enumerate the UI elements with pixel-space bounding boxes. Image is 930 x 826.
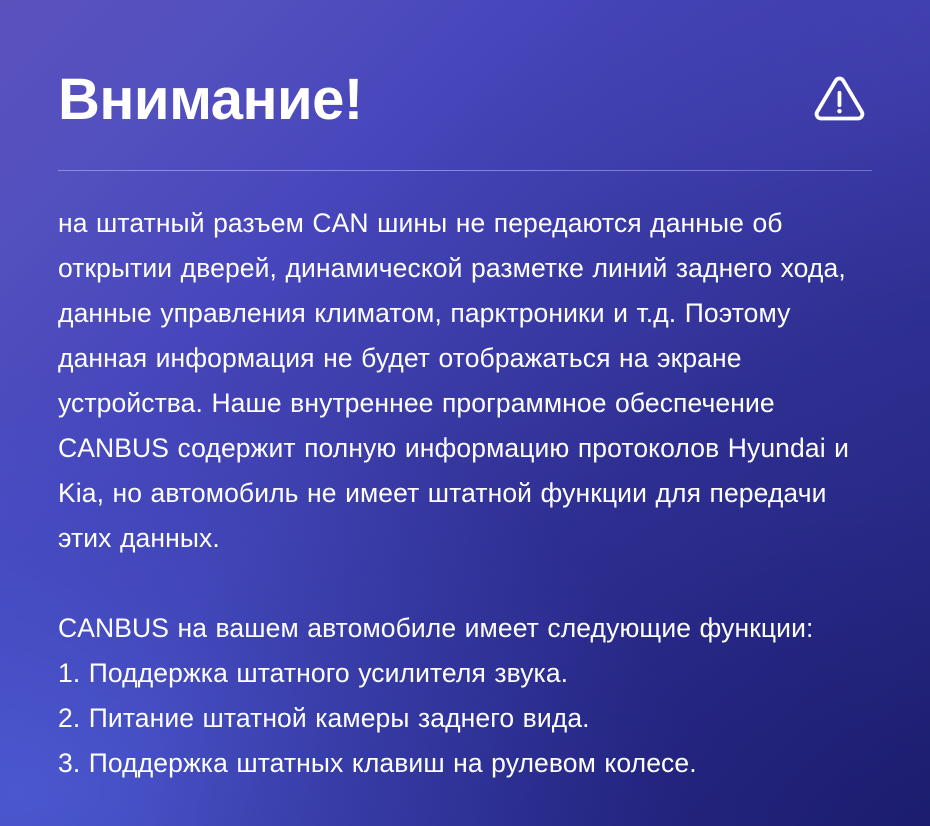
paragraph-canbus-functions-intro: CANBUS на вашем автомобиле имеет следующ…: [58, 606, 872, 651]
poster-content: Внимание! на штатный разъем CAN шины не …: [0, 0, 930, 786]
list-item: 1. Поддержка штатного усилителя звука.: [58, 651, 872, 696]
warning-triangle-icon: [812, 73, 872, 127]
list-item: 2. Питание штатной камеры заднего вида.: [58, 696, 872, 741]
paragraph-can-bus-limitations: на штатный разъем CAN шины не передаются…: [58, 201, 872, 561]
page-title: Внимание!: [58, 71, 363, 129]
canbus-feature-list: 1. Поддержка штатного усилителя звука. 2…: [58, 651, 872, 786]
poster-header: Внимание!: [58, 0, 872, 148]
list-item: 3. Поддержка штатных клавиш на рулевом к…: [58, 741, 872, 786]
poster-body: на штатный разъем CAN шины не передаются…: [58, 171, 872, 786]
warning-poster: Внимание! на штатный разъем CAN шины не …: [0, 0, 930, 826]
